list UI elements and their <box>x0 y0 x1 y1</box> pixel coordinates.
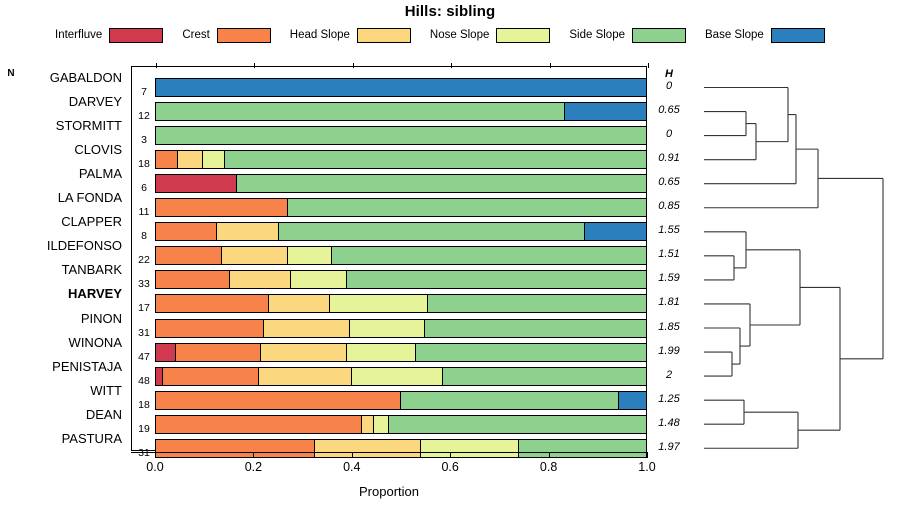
bar-segment <box>230 271 291 288</box>
h-value: 0 <box>652 128 686 140</box>
stacked-bar <box>155 150 647 169</box>
bar-segment <box>156 79 646 96</box>
y-axis-label: HARVEY <box>0 286 122 301</box>
x-axis-tick-label: 1.0 <box>627 460 667 474</box>
y-axis-label: TANBARK <box>0 262 122 277</box>
legend: InterfluveCrestHead SlopeNose SlopeSide … <box>55 26 845 44</box>
bar-segment <box>347 271 646 288</box>
bar-segment <box>428 295 646 312</box>
x-axis-tick <box>549 452 550 458</box>
stacked-bar <box>155 415 647 434</box>
legend-label: Head Slope <box>290 29 350 41</box>
bar-segment <box>237 175 646 192</box>
n-value: 18 <box>133 158 155 170</box>
page-title: Hills: sibling <box>0 3 900 20</box>
legend-item: Nose Slope <box>430 28 550 43</box>
h-column-header: H <box>652 68 686 80</box>
bar-segment <box>156 175 237 192</box>
panel-top-tick <box>353 63 354 68</box>
bar-segment <box>225 151 646 168</box>
n-value: 22 <box>133 254 155 266</box>
y-axis-label: ILDEFONSO <box>0 238 122 253</box>
bar-segment <box>389 416 646 433</box>
stacked-bar <box>155 367 647 386</box>
bar-segment <box>217 223 278 240</box>
legend-label: Nose Slope <box>430 29 489 41</box>
y-axis-label: GABALDON <box>0 70 122 85</box>
y-axis-label: PALMA <box>0 166 122 181</box>
bar-segment <box>374 416 389 433</box>
x-axis-tick-label: 0.8 <box>529 460 569 474</box>
bar-segment <box>264 320 350 337</box>
bar-segment <box>156 392 401 409</box>
bar-segment <box>156 416 362 433</box>
bar-segment <box>156 368 163 385</box>
legend-swatch <box>357 28 411 43</box>
stacked-bar <box>155 174 647 193</box>
bar-segment <box>156 344 176 361</box>
y-axis-label: DARVEY <box>0 94 122 109</box>
bar-segment <box>156 295 269 312</box>
stacked-bar <box>155 78 647 97</box>
bar-segment <box>332 247 646 264</box>
n-value: 47 <box>133 351 155 363</box>
h-value: 1.25 <box>652 393 686 405</box>
n-value: 19 <box>133 423 155 435</box>
n-value: 33 <box>133 278 155 290</box>
stacked-bar <box>155 319 647 338</box>
stacked-bar <box>155 102 647 121</box>
stacked-bar <box>155 126 647 145</box>
bar-segment <box>259 368 352 385</box>
h-value: 0.65 <box>652 104 686 116</box>
n-value: 48 <box>133 375 155 387</box>
legend-swatch <box>771 28 825 43</box>
y-axis-label: WINONA <box>0 335 122 350</box>
n-value: 3 <box>133 134 155 146</box>
legend-swatch <box>496 28 550 43</box>
bar-segment <box>156 199 288 216</box>
legend-label: Base Slope <box>705 29 764 41</box>
x-axis-tick-label: 0.6 <box>430 460 470 474</box>
bar-segment <box>352 368 443 385</box>
bar-segment <box>330 295 428 312</box>
bar-segment <box>156 223 217 240</box>
x-axis-tick <box>647 452 648 458</box>
n-value: 18 <box>133 399 155 411</box>
n-value: 7 <box>133 86 155 98</box>
bar-segment <box>176 344 262 361</box>
bar-segment <box>291 271 347 288</box>
y-axis-label: PINON <box>0 311 122 326</box>
y-axis-label: LA FONDA <box>0 190 122 205</box>
legend-item: Crest <box>182 28 270 43</box>
y-axis-label: CLAPPER <box>0 214 122 229</box>
bar-segment <box>619 392 646 409</box>
x-axis-tick-label: 0.2 <box>233 460 273 474</box>
bar-segment <box>416 344 646 361</box>
n-value: 8 <box>133 230 155 242</box>
x-axis-tick <box>253 452 254 458</box>
stacked-bar <box>155 270 647 289</box>
n-value: 31 <box>133 327 155 339</box>
bar-segment <box>279 223 585 240</box>
bar-segment <box>350 320 426 337</box>
n-value: 17 <box>133 302 155 314</box>
bar-segment <box>156 103 565 120</box>
bar-segment <box>362 416 374 433</box>
stacked-bar <box>155 198 647 217</box>
y-axis-label: WITT <box>0 383 122 398</box>
panel-top-tick <box>451 63 452 68</box>
x-axis-tick <box>450 452 451 458</box>
panel-top-tick <box>156 63 157 68</box>
bar-segment <box>261 344 347 361</box>
h-value: 1.85 <box>652 321 686 333</box>
legend-label: Crest <box>182 29 209 41</box>
h-value: 1.55 <box>652 224 686 236</box>
h-value: 2 <box>652 369 686 381</box>
bar-segment <box>156 271 230 288</box>
bar-segment <box>401 392 619 409</box>
bar-segment <box>565 103 646 120</box>
bar-segment <box>156 247 222 264</box>
n-value: 6 <box>133 182 155 194</box>
bar-segment <box>269 295 330 312</box>
bar-segment <box>443 368 646 385</box>
legend-item: Interfluve <box>55 28 163 43</box>
x-axis-line <box>131 452 647 453</box>
h-value: 1.59 <box>652 272 686 284</box>
h-value: 0.65 <box>652 176 686 188</box>
panel-top-tick <box>550 63 551 68</box>
legend-swatch <box>109 28 163 43</box>
h-value: 0.91 <box>652 152 686 164</box>
stacked-bar <box>155 391 647 410</box>
bar-segment <box>156 151 178 168</box>
legend-item: Head Slope <box>290 28 411 43</box>
y-axis-label: CLOVIS <box>0 142 122 157</box>
bar-segment <box>178 151 203 168</box>
dendrogram <box>700 66 895 451</box>
bar-segment <box>222 247 288 264</box>
bar-segment <box>288 199 646 216</box>
x-axis-title: Proportion <box>131 484 647 499</box>
y-axis-label: DEAN <box>0 407 122 422</box>
n-value: 12 <box>133 110 155 122</box>
stacked-bar <box>155 246 647 265</box>
bar-segment <box>156 320 264 337</box>
legend-item: Side Slope <box>569 28 686 43</box>
h-value: 0.85 <box>652 200 686 212</box>
h-value: 1.99 <box>652 345 686 357</box>
bar-segment <box>288 247 332 264</box>
x-axis-tick <box>155 452 156 458</box>
h-value: 1.48 <box>652 417 686 429</box>
x-axis-tick-label: 0.0 <box>135 460 175 474</box>
stacked-bar <box>155 343 647 362</box>
panel-top-tick <box>648 63 649 68</box>
bar-segment <box>425 320 646 337</box>
bar-segment <box>347 344 416 361</box>
y-axis-label: STORMITT <box>0 118 122 133</box>
legend-swatch <box>632 28 686 43</box>
legend-swatch <box>217 28 271 43</box>
stacked-bar <box>155 294 647 313</box>
x-axis-tick-label: 0.4 <box>332 460 372 474</box>
y-axis-label: PASTURA <box>0 431 122 446</box>
y-axis-label: PENISTAJA <box>0 359 122 374</box>
bar-segment <box>585 223 646 240</box>
h-value: 0 <box>652 80 686 92</box>
x-axis-tick <box>352 452 353 458</box>
stacked-bar <box>155 222 647 241</box>
panel-top-tick <box>254 63 255 68</box>
legend-label: Side Slope <box>569 29 625 41</box>
dendrogram-svg <box>700 66 895 451</box>
bar-segment <box>163 368 259 385</box>
bar-segment <box>156 127 646 144</box>
h-value: 1.51 <box>652 248 686 260</box>
bar-segment <box>203 151 225 168</box>
legend-item: Base Slope <box>705 28 825 43</box>
n-value: 11 <box>133 206 155 218</box>
legend-label: Interfluve <box>55 29 102 41</box>
h-value: 1.81 <box>652 296 686 308</box>
h-value: 1.97 <box>652 441 686 453</box>
